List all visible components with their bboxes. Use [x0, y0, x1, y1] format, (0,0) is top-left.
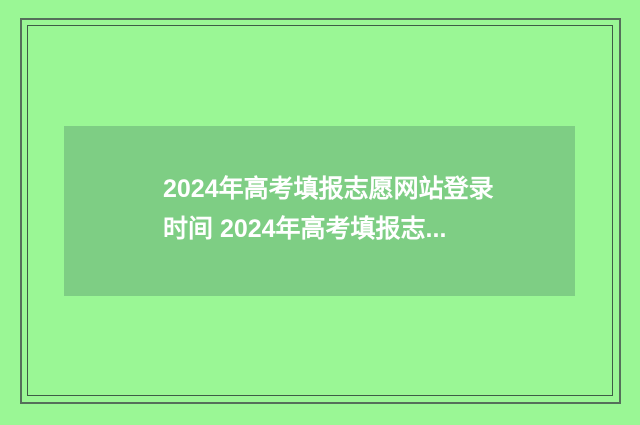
headline-text: 2024年高考填报志愿网站登录时间 2024年高考填报志... — [163, 169, 503, 249]
card-canvas: 2024年高考填报志愿网站登录时间 2024年高考填报志... — [0, 0, 640, 425]
headline-panel: 2024年高考填报志愿网站登录时间 2024年高考填报志... — [64, 126, 575, 296]
